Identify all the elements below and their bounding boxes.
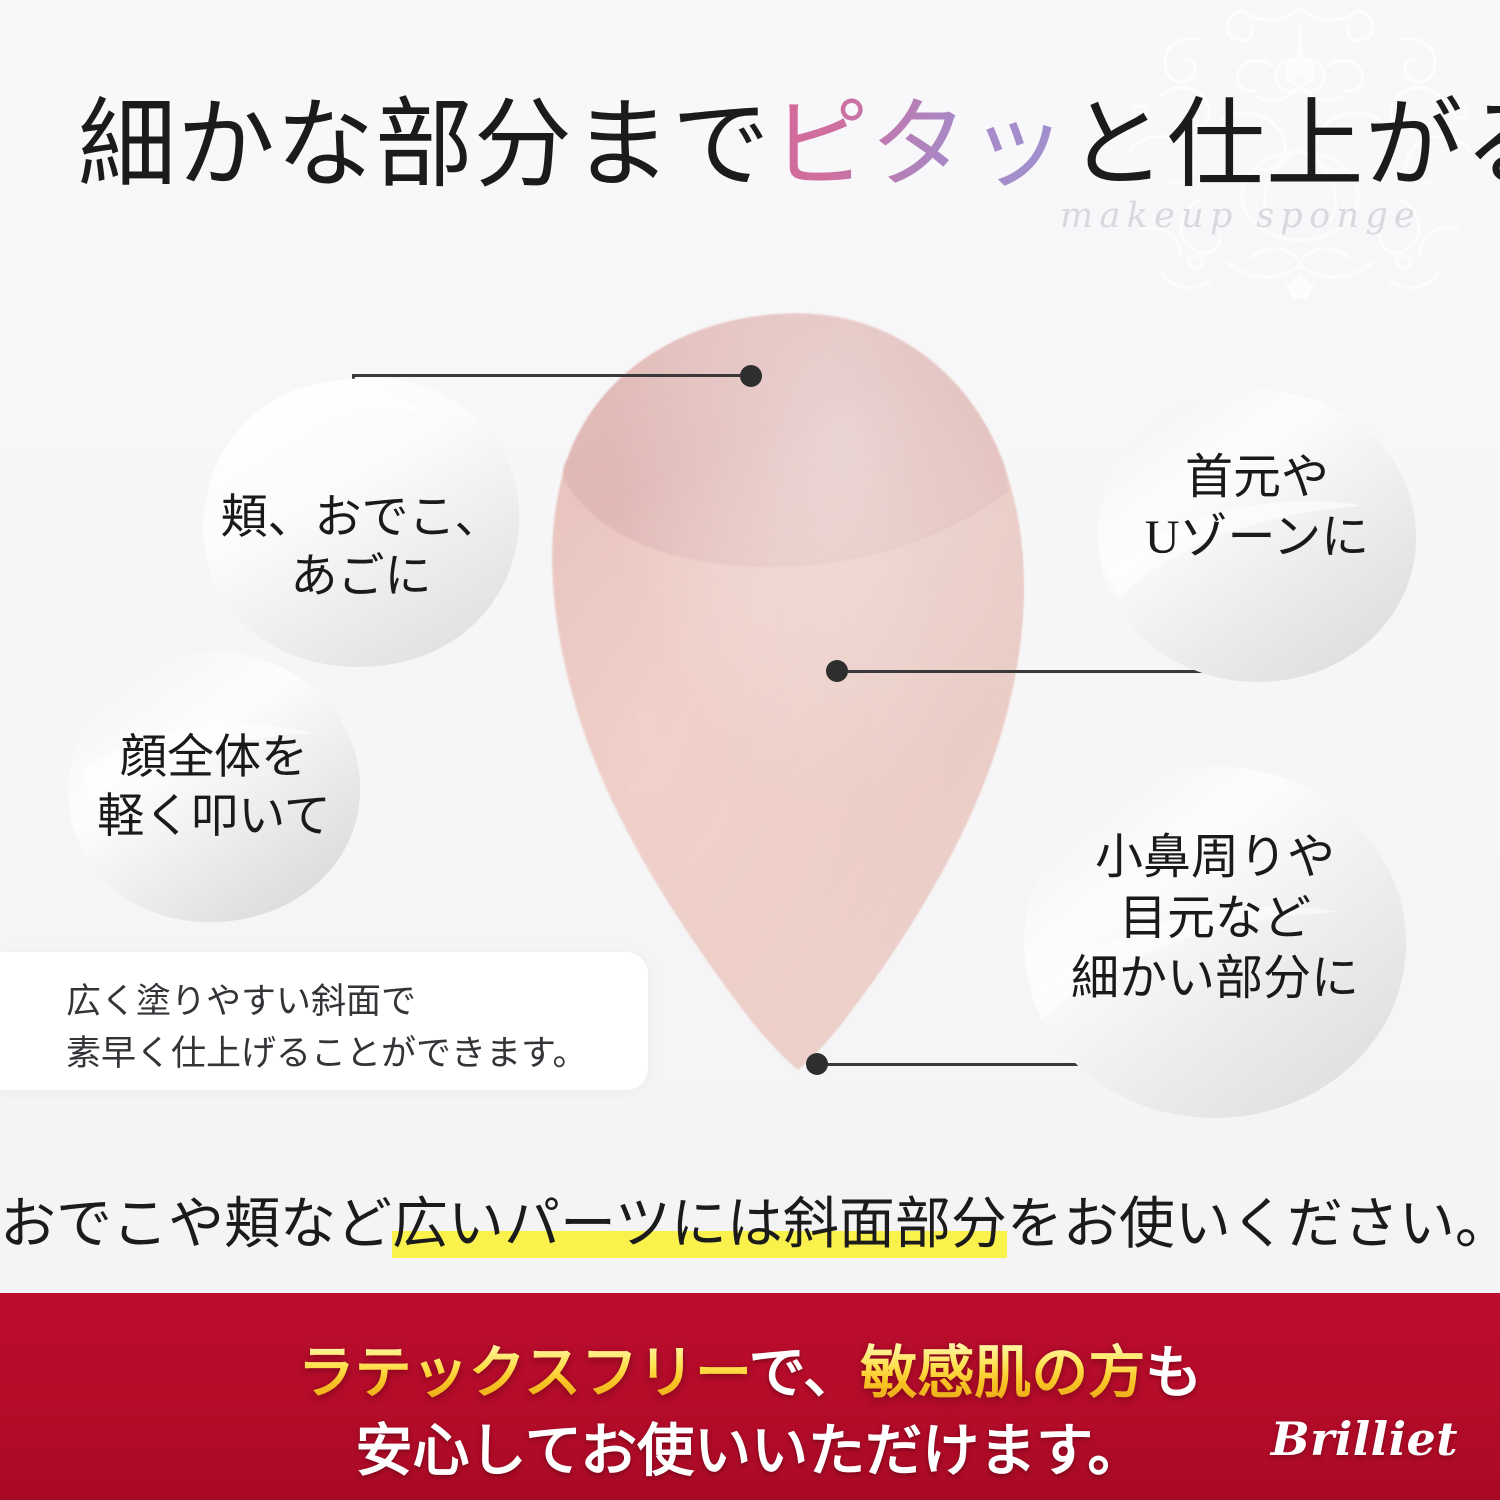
callout-bubble-nose-eye: 小鼻周りや 目元など 細かい部分に xyxy=(1020,762,1410,1122)
leader-dot-icon xyxy=(826,660,848,682)
callout-text-whole-face: 顔全体を 軽く叩いて xyxy=(97,729,331,847)
headline-part1: 細かな部分まで xyxy=(78,92,771,200)
caption-card: 広く塗りやすい斜面で 素早く仕上げることができます。 xyxy=(0,952,648,1090)
callout-bubble-neck-uzone: 首元や Uゾーンに xyxy=(1092,386,1422,686)
usage-before: おでこや頬など xyxy=(0,1194,392,1256)
usage-sentence: おでこや頬など広いパーツには斜面部分をお使いください。 xyxy=(0,1180,1500,1270)
callout-text-nose-eye: 小鼻周りや 目元など 細かい部分に xyxy=(1071,828,1359,1055)
headline-accent: ピタッ xyxy=(771,92,1068,200)
usage-highlight: 広いパーツには斜面部分 xyxy=(392,1194,1007,1258)
leader-dot-icon xyxy=(740,365,762,387)
footer-line-1: ラテックスフリーで、敏感肌の方も xyxy=(0,1327,1500,1409)
leader-dot-icon xyxy=(806,1053,828,1075)
callout-bubble-whole-face: 顔全体を 軽く叩いて xyxy=(64,650,364,926)
poster-canvas: 細かな部分までピタッと仕上がる makeup sponge xyxy=(0,0,1500,1500)
usage-after: をお使いください。 xyxy=(1007,1194,1500,1256)
footer-gold-a: ラテックスフリー xyxy=(298,1342,749,1405)
callout-bubble-cheek: 頬、おでこ、 あごに xyxy=(196,372,526,672)
footer-white-b: も xyxy=(1145,1342,1202,1405)
page-title: 細かな部分までピタッと仕上がる xyxy=(78,86,1438,206)
footer-gold-b: 敏感肌の方 xyxy=(860,1342,1145,1405)
headline-part2: と仕上がる xyxy=(1068,92,1500,200)
headline-subscript: makeup sponge xyxy=(1060,196,1421,236)
caption-text: 広く塗りやすい斜面で 素早く仕上げることができます。 xyxy=(66,976,626,1080)
brand-logo: Brilliet xyxy=(1271,1412,1458,1466)
callout-text-neck-uzone: 首元や Uゾーンに xyxy=(1145,448,1369,625)
callout-text-cheek: 頬、おでこ、 あごに xyxy=(220,437,501,607)
footer-white-a: で、 xyxy=(749,1342,861,1405)
footer-banner: ラテックスフリーで、敏感肌の方も 安心してお使いいただけます。 xyxy=(0,1293,1500,1500)
